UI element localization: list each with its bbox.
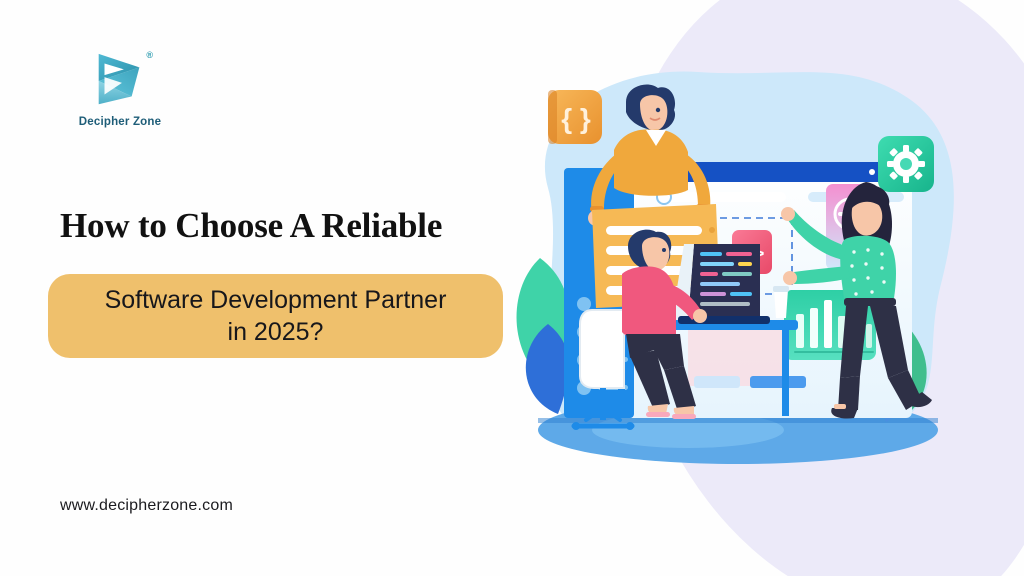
software-team-collaboration-illustration: { } </>	[488, 58, 988, 478]
gear-icon	[878, 136, 934, 192]
curly-braces-icon: { }	[548, 90, 602, 144]
svg-text:{ }: { }	[561, 103, 591, 134]
subtitle-text: Software Development Partner in 2025?	[105, 284, 447, 348]
subtitle-highlight-pill: Software Development Partner in 2025?	[48, 274, 503, 358]
trademark-symbol: ®	[146, 50, 153, 60]
website-url[interactable]: www.decipherzone.com	[60, 497, 233, 515]
page-title: How to Choose A Reliable	[60, 206, 442, 246]
decipher-zone-play-triangle-icon: ®	[89, 48, 151, 110]
blog-banner: ® Decipher Zone How to Choose A Reliable…	[0, 0, 1024, 576]
subtitle-line-1: Software Development Partner	[105, 286, 447, 314]
brand-name: Decipher Zone	[60, 116, 180, 128]
brand-logo[interactable]: ® Decipher Zone	[60, 48, 180, 128]
subtitle-line-2: in 2025?	[228, 318, 324, 346]
